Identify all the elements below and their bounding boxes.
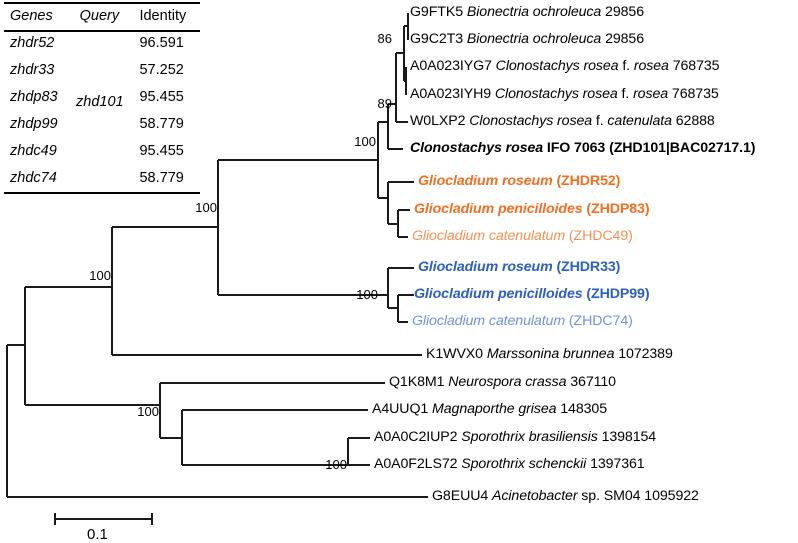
leaf-label-a0a0f2ls72: A0A0F2LS72 Sporothrix schenckii 1397361	[374, 457, 645, 471]
leaf-label-g9ftk5: G9FTK5 Bionectria ochroleuca 29856	[410, 5, 644, 19]
phylogenetic-tree-figure: Genes Query Identity zhdr52 96.591 zhdr3…	[0, 0, 798, 542]
leaf-label-g9c2t3: G9C2T3 Bionectria ochroleuca 29856	[410, 32, 644, 46]
leaf-label-zhd101: Clonostachys rosea IFO 7063 (ZHD101|BAC0…	[410, 141, 755, 155]
leaf-label-a0a0c2iup2: A0A0C2IUP2 Sporothrix brasiliensis 13981…	[374, 430, 656, 444]
bootstrap-value: 100	[131, 404, 159, 419]
scale-bar-label: 0.1	[87, 526, 108, 543]
bootstrap-value: 86	[370, 31, 392, 46]
bootstrap-value: 89	[370, 96, 392, 111]
leaf-label-zhdp99: Gliocladium penicilloides (ZHDP99)	[414, 287, 649, 301]
leaf-label-g8euu4: G8EUU4 Acinetobacter sp. SM04 1095922	[432, 489, 699, 503]
scale-bar	[55, 513, 152, 525]
leaf-label-k1wvx0: K1WVX0 Marssonina brunnea 1072389	[426, 347, 673, 361]
bootstrap-value: 100	[350, 287, 378, 302]
leaf-label-zhdr52: Gliocladium roseum (ZHDR52)	[418, 174, 620, 188]
bootstrap-value: 100	[189, 200, 217, 215]
bootstrap-value: 100	[319, 457, 347, 472]
bootstrap-value: 100	[348, 134, 376, 149]
leaf-label-q1k8m1: Q1K8M1 Neurospora crassa 367110	[389, 375, 616, 389]
leaf-label-a0a023iyh9: A0A023IYH9 Clonostachys rosea f. rosea 7…	[410, 87, 719, 101]
leaf-label-zhdp83: Gliocladium penicilloides (ZHDP83)	[414, 202, 649, 216]
leaf-label-zhdr33: Gliocladium roseum (ZHDR33)	[418, 260, 620, 274]
leaf-label-zhdc49: Gliocladium catenulatum (ZHDC49)	[412, 229, 633, 243]
leaf-label-a4uuq1: A4UUQ1 Magnaporthe grisea 148305	[372, 402, 607, 416]
bootstrap-value: 100	[83, 268, 111, 283]
leaf-label-a0a023iyg7: A0A023IYG7 Clonostachys rosea f. rosea 7…	[410, 59, 719, 73]
leaf-label-zhdc74: Gliocladium catenulatum (ZHDC74)	[412, 314, 633, 328]
leaf-label-w0lxp2: W0LXP2 Clonostachys rosea f. catenulata …	[410, 114, 715, 128]
